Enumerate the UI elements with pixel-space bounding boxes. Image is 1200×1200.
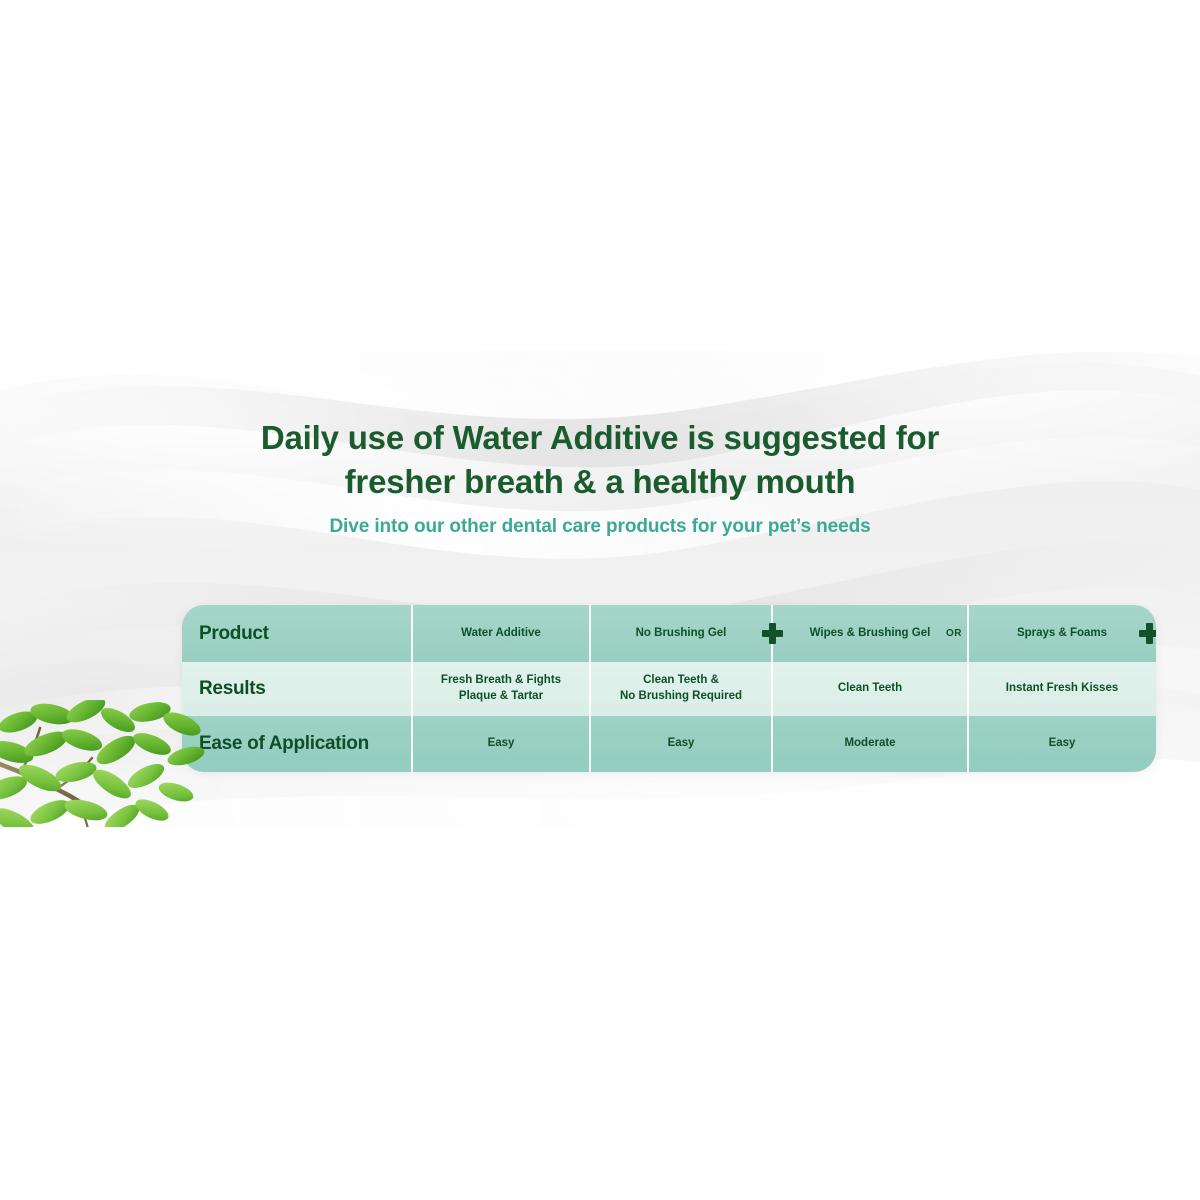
or-label: OR xyxy=(946,628,962,639)
row-label-ease: Ease of Application xyxy=(182,716,412,772)
cell-product-1[interactable]: Water Additive xyxy=(412,605,590,662)
cell-product-4[interactable]: Sprays & Foams xyxy=(968,605,1156,662)
cell-results-2: Clean Teeth &No Brushing Required xyxy=(590,662,772,716)
row-label-results: Results xyxy=(182,662,412,716)
cell-results-1: Fresh Breath & FightsPlaque & Tartar xyxy=(412,662,590,716)
cell-ease-4: Easy xyxy=(968,716,1156,772)
table-row-results: Results Fresh Breath & FightsPlaque & Ta… xyxy=(182,662,1156,716)
cell-ease-1: Easy xyxy=(412,716,590,772)
title-line-2: fresher breath & a healthy mouth xyxy=(345,463,856,500)
cell-results-1-line2: Plaque & Tartar xyxy=(459,690,543,702)
page-subtitle: Dive into our other dental care products… xyxy=(0,516,1200,538)
page-root: Daily use of Water Additive is suggested… xyxy=(0,0,1200,1200)
cell-ease-3: Moderate xyxy=(772,716,968,772)
cell-results-4: Instant Fresh Kisses xyxy=(968,662,1156,716)
plus-icon xyxy=(762,623,783,644)
separator-plus-1 xyxy=(756,605,788,662)
comparison-table: Product Water Additive No Brushing Gel W… xyxy=(182,605,1156,772)
cell-results-3: Clean Teeth xyxy=(772,662,968,716)
cell-results-2-line2: No Brushing Required xyxy=(620,690,742,702)
table-row-product: Product Water Additive No Brushing Gel W… xyxy=(182,605,1156,662)
cell-ease-2: Easy xyxy=(590,716,772,772)
cell-product-2[interactable]: No Brushing Gel xyxy=(590,605,772,662)
title-line-1: Daily use of Water Additive is suggested… xyxy=(261,419,939,456)
page-title: Daily use of Water Additive is suggested… xyxy=(0,416,1200,504)
table-row-ease: Ease of Application Easy Easy Moderate E… xyxy=(182,716,1156,772)
separator-plus-2 xyxy=(1133,605,1156,662)
cell-results-1-line1: Fresh Breath & Fights xyxy=(441,674,561,686)
plus-icon xyxy=(1139,623,1157,644)
banner-heading-block: Daily use of Water Additive is suggested… xyxy=(0,416,1200,538)
row-label-product: Product xyxy=(182,605,412,662)
promo-banner: Daily use of Water Additive is suggested… xyxy=(0,350,1200,827)
cell-results-2-line1: Clean Teeth & xyxy=(643,674,719,686)
separator-or: OR xyxy=(938,605,970,662)
artwork-svg xyxy=(0,700,215,827)
leaves-group xyxy=(0,700,206,827)
dog-and-leaves-artwork xyxy=(0,700,215,827)
